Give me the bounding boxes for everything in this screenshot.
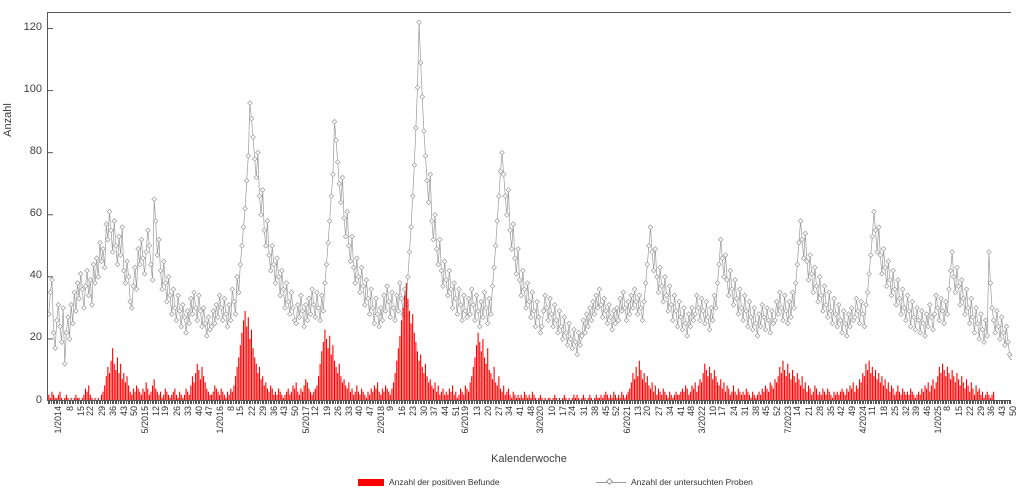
x-axis-tick-label: 40 [195,406,204,416]
x-axis-tick-label: 36 [270,406,279,416]
x-axis-tick-label: 22 [86,406,95,416]
x-axis-tick-label: 22 [248,406,257,416]
x-axis-tick-label: 50 [291,406,300,416]
legend-label-positive: Anzahl der positiven Befunde [389,477,500,487]
x-axis-tick-label: 9 [386,406,395,411]
x-axis-tick-label: 29 [259,406,268,416]
x-axis-tick-label: 34 [666,406,675,416]
x-axis-tick-label: 6/2021 [623,406,632,434]
x-axis-tick-label: 38 [752,406,761,416]
x-axis-tick-label: 6/2019 [461,406,470,434]
x-axis-tick-label: 45 [602,406,611,416]
x-axis-tick-label: 29 [977,406,986,416]
x-axis-tick-label: 29 [98,406,107,416]
x-axis-tick-label: 49 [848,406,857,416]
x-axis-tick-label: 1/2016 [216,406,225,434]
legend-swatch-gray-line [596,478,626,487]
x-axis-tick-label: 31 [580,406,589,416]
x-axis-tick-label: 33 [184,406,193,416]
x-axis-tick-label: 18 [880,406,889,416]
x-axis-tick-label: 52 [773,406,782,416]
bar-series-positive-findings [48,283,994,401]
chart-container: Anzahl 020406080100120 1/201481522293643… [0,0,1024,499]
x-axis-tick-label: 32 [902,406,911,416]
x-axis-tick-label: 38 [591,406,600,416]
x-axis-tick-label: 19 [161,406,170,416]
x-axis-tick-label: 24 [730,406,739,416]
series-canvas [48,13,1012,401]
x-axis-tick-label: 20 [484,406,493,416]
x-axis-tick-label: 42 [837,406,846,416]
x-axis-tick-label: 34 [505,406,514,416]
x-axis-tick-label: 40 [355,406,364,416]
y-axis-tick-marks [48,29,53,401]
x-axis-tick-labels: 1/201481522293643505/20151219263340471/2… [47,404,1011,446]
x-axis-tick-label: 1/2014 [54,406,63,434]
y-axis-tick-60: 60 [8,208,42,219]
x-axis-tick-label: 13 [473,406,482,416]
x-axis-tick-label: 26 [173,406,182,416]
x-axis-tick-label: 17 [718,406,727,416]
x-axis-tick-label: 11 [868,406,877,415]
x-axis-tick-label: 23 [409,406,418,416]
x-axis-tick-label: 50 [1009,406,1018,416]
x-axis-tick-label: 8 [66,406,75,411]
x-axis-tick-label: 47 [366,406,375,416]
x-axis-tick-label: 36 [987,406,996,416]
x-axis-tick-label: 27 [655,406,664,416]
diamond-marker-icon [606,478,613,485]
x-axis-tick-label: 15 [955,406,964,416]
x-axis-tick-label: 28 [816,406,825,416]
chart-legend: Anzahl der positiven Befunde Anzahl der … [47,475,1011,493]
x-axis-tick-label: 19 [323,406,332,416]
x-axis-tick-label: 24 [568,406,577,416]
line-series-tested-samples [48,20,1012,366]
legend-item-tested: Anzahl der untersuchten Proben [596,475,753,489]
x-axis-tick-label: 31 [741,406,750,416]
y-axis-tick-40: 40 [8,270,42,281]
x-axis-tick-label: 12 [311,406,320,416]
plot-canvas [48,13,1011,400]
x-axis-tick-label: 43 [998,406,1007,416]
x-axis-tick-label: 3/2020 [536,406,545,434]
x-axis-tick-label: 21 [805,406,814,416]
x-axis-tick-label: 41 [516,406,525,416]
legend-label-tested: Anzahl der untersuchten Proben [631,477,753,487]
y-axis-tick-80: 80 [8,146,42,157]
x-axis-tick-label: 52 [612,406,621,416]
plot-area [47,12,1011,400]
x-axis-tick-label: 43 [120,406,129,416]
x-axis-tick-label: 44 [441,406,450,416]
legend-swatch-red-bar [358,479,384,486]
x-axis-tick-label: 5/2015 [141,406,150,434]
y-axis-tick-labels: 020406080100120 [0,0,42,499]
x-axis-tick-label: 47 [205,406,214,416]
y-axis-tick-120: 120 [8,22,42,33]
x-axis-tick-label: 48 [687,406,696,416]
x-axis-tick-label: 26 [334,406,343,416]
y-axis-tick-100: 100 [8,84,42,95]
x-axis-tick-label: 46 [923,406,932,416]
x-axis-tick-label: 37 [430,406,439,416]
x-axis-tick-label: 8 [943,406,952,411]
x-axis-tick-label: 30 [420,406,429,416]
x-axis-tick-label: 27 [495,406,504,416]
x-axis-tick-label: 45 [762,406,771,416]
x-axis-tick-label: 39 [912,406,921,416]
x-axis-tick-label: 20 [643,406,652,416]
x-axis-tick-label: 3/2022 [698,406,707,434]
y-axis-tick-0: 0 [8,395,42,406]
x-axis-tick-label: 50 [130,406,139,416]
x-axis-tick-label: 10 [548,406,557,416]
x-axis-tick-label: 33 [345,406,354,416]
legend-item-positive: Anzahl der positiven Befunde [358,475,500,489]
x-axis-tick-label: 36 [109,406,118,416]
x-axis-tick-label: 25 [891,406,900,416]
x-axis-tick-label: 14 [793,406,802,416]
x-axis-tick-label: 43 [280,406,289,416]
y-axis-tick-20: 20 [8,332,42,343]
x-axis-tick-label: 16 [398,406,407,416]
x-axis-title: Kalenderwoche [47,453,1011,465]
x-axis-tick-label: 35 [827,406,836,416]
x-axis-tick-label: 22 [966,406,975,416]
x-axis-tick-label: 15 [236,406,245,416]
x-axis-tick-label: 41 [677,406,686,416]
